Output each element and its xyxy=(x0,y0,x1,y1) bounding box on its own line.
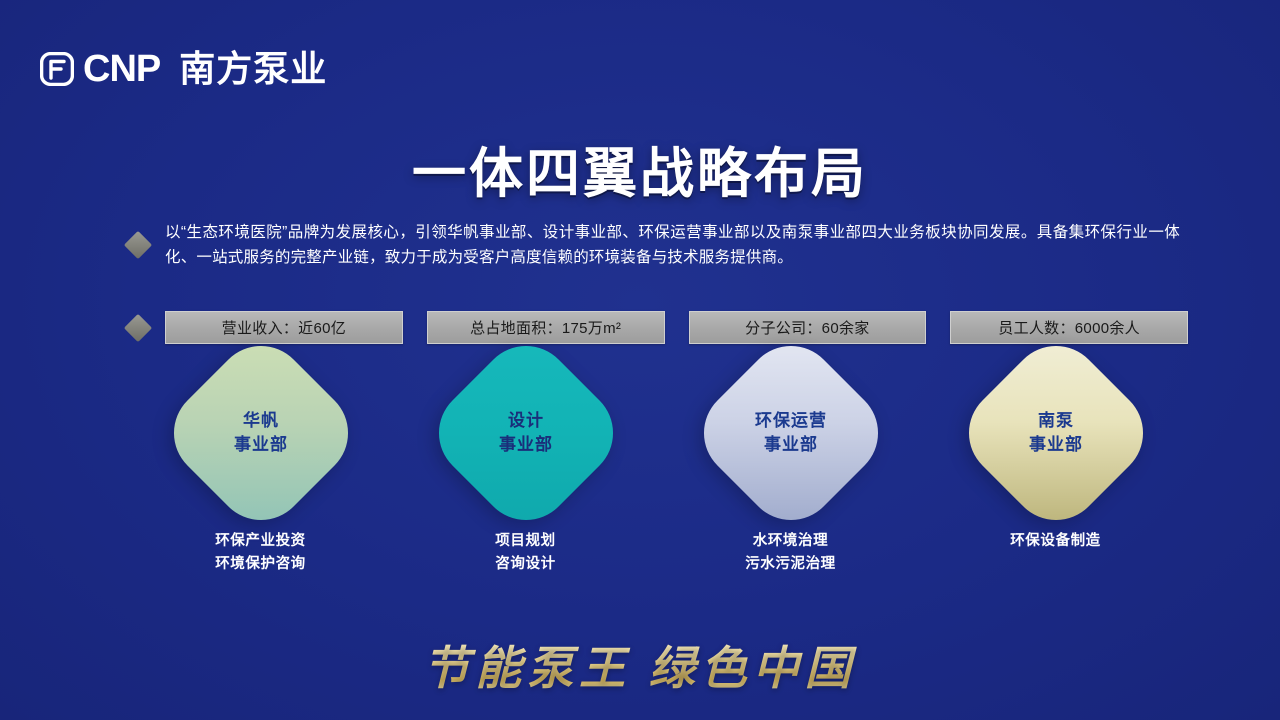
division-name-line2: 事业部 xyxy=(234,433,288,457)
diamond-bullet-icon xyxy=(124,313,152,341)
division-caption-line1: 项目规划 xyxy=(495,530,555,553)
stat-employees: 员工人数：6000余人 xyxy=(950,311,1188,344)
division-caption-line2: 污水污泥治理 xyxy=(745,553,836,576)
division-shape-label: 华帆 事业部 xyxy=(234,409,288,457)
division-name-line2: 事业部 xyxy=(499,433,553,457)
division-name-line1: 设计 xyxy=(499,409,553,433)
division-caption: 项目规划 咨询设计 xyxy=(495,530,555,576)
cnp-pump-logo-icon xyxy=(40,52,74,86)
division-caption: 环保产业投资 环境保护咨询 xyxy=(215,530,306,576)
division-shape-label: 南泵 事业部 xyxy=(1029,409,1083,457)
division-shape-label: 环保运营 事业部 xyxy=(755,409,827,457)
stat-subsidiaries: 分子公司：60余家 xyxy=(689,311,927,344)
division-name-line2: 事业部 xyxy=(1029,433,1083,457)
division-shape-huanbaoyunying[interactable]: 环保运营 事业部 xyxy=(684,327,896,539)
stat-land-area: 总占地面积：175万m² xyxy=(427,311,665,344)
division-caption-line2: 环境保护咨询 xyxy=(215,553,306,576)
division-name-line2: 事业部 xyxy=(755,433,827,457)
division-card-huafan[interactable]: 华帆 事业部 环保产业投资 环境保护咨询 xyxy=(128,358,393,576)
division-shape-label: 设计 事业部 xyxy=(499,409,553,457)
division-name-line1: 南泵 xyxy=(1029,409,1083,433)
division-caption-line1: 环保设备制造 xyxy=(1010,530,1101,553)
brand-name-cn: 南方泵业 xyxy=(179,51,327,87)
stat-revenue: 营业收入：近60亿 xyxy=(165,311,403,344)
footer-slogan: 节能泵王 绿色中国 xyxy=(0,632,1280,698)
division-caption: 环保设备制造 xyxy=(1010,530,1101,553)
stats-block: 营业收入：近60亿 总占地面积：175万m² 分子公司：60余家 员工人数：60… xyxy=(128,311,1188,344)
page-title: 一体四翼战略布局 xyxy=(0,129,1280,208)
division-name-line1: 环保运营 xyxy=(755,409,827,433)
division-caption-line1: 环保产业投资 xyxy=(215,530,306,553)
division-shape-huafan[interactable]: 华帆 事业部 xyxy=(154,327,366,539)
division-name-line1: 华帆 xyxy=(234,409,288,433)
intro-paragraph: 以“生态环境医院”品牌为发展核心，引领华帆事业部、设计事业部、环保运营事业部以及… xyxy=(165,220,1180,270)
diamond-bullet-icon xyxy=(124,231,152,259)
division-card-huanbaoyunying[interactable]: 环保运营 事业部 水环境治理 污水污泥治理 xyxy=(658,358,923,576)
brand-logo: CNP 南方泵业 xyxy=(40,50,327,88)
slide-root: CNP 南方泵业 一体四翼战略布局 以“生态环境医院”品牌为发展核心，引领华帆事… xyxy=(0,0,1280,720)
stats-list: 营业收入：近60亿 总占地面积：175万m² 分子公司：60余家 员工人数：60… xyxy=(165,311,1188,344)
division-cards: 华帆 事业部 环保产业投资 环境保护咨询 设计 事业部 项目规划 咨询设计 xyxy=(128,358,1188,576)
division-caption: 水环境治理 污水污泥治理 xyxy=(745,530,836,576)
division-card-sheji[interactable]: 设计 事业部 项目规划 咨询设计 xyxy=(393,358,658,576)
division-shape-nanbeng[interactable]: 南泵 事业部 xyxy=(949,327,1161,539)
division-card-nanbeng[interactable]: 南泵 事业部 环保设备制造 xyxy=(923,358,1188,576)
division-caption-line2: 咨询设计 xyxy=(495,553,555,576)
brand-name-en: CNP xyxy=(83,50,160,88)
intro-block: 以“生态环境医院”品牌为发展核心，引领华帆事业部、设计事业部、环保运营事业部以及… xyxy=(128,220,1188,270)
division-shape-sheji[interactable]: 设计 事业部 xyxy=(419,327,631,539)
division-caption-line1: 水环境治理 xyxy=(745,530,836,553)
